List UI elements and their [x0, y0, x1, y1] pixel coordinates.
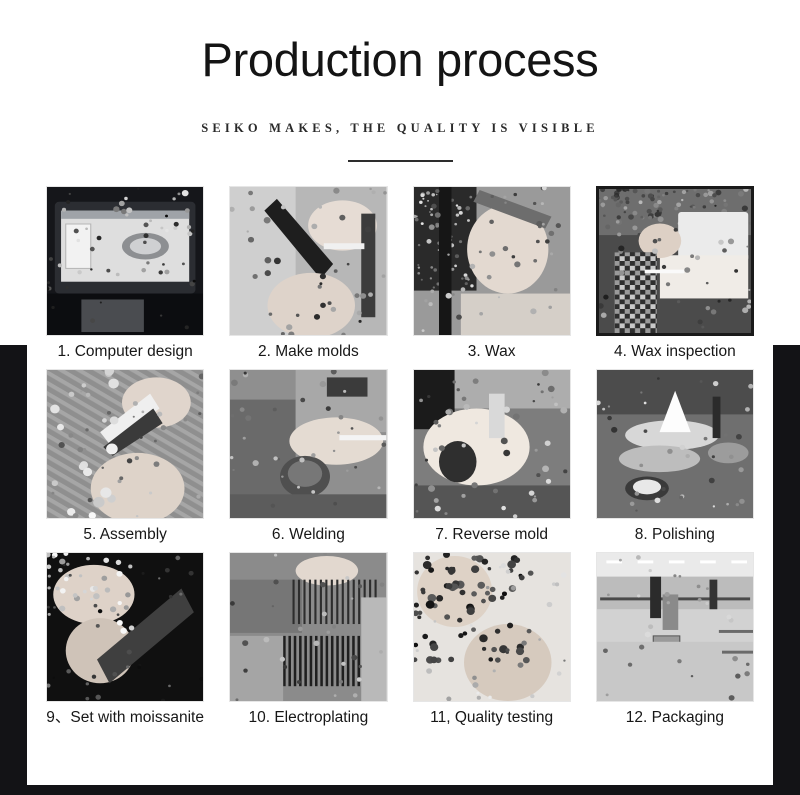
process-step-caption: 3. Wax	[468, 342, 516, 361]
process-step-8[interactable]: 8. Polishing	[596, 369, 754, 544]
process-step-2[interactable]: 2. Make molds	[229, 186, 387, 361]
process-step-7[interactable]: 7. Reverse mold	[413, 369, 571, 544]
process-step-caption: 1. Computer design	[57, 342, 192, 361]
bottom-accent-bar	[0, 785, 800, 795]
process-step-caption: 9、Set with moissanite	[46, 708, 204, 727]
page-subtitle: SEIKO MAKES, THE QUALITY IS VISIBLE	[0, 121, 800, 136]
factory-line-photo[interactable]	[596, 552, 754, 702]
process-step-caption: 11, Quality testing	[430, 708, 553, 727]
process-step-caption: 5. Assembly	[83, 525, 167, 544]
process-step-caption: 4. Wax inspection	[614, 342, 736, 361]
title-divider	[348, 160, 453, 162]
wax-tray-inspection-photo[interactable]	[596, 186, 754, 336]
process-step-6[interactable]: 6. Welding	[229, 369, 387, 544]
process-step-caption: 7. Reverse mold	[435, 525, 548, 544]
process-step-caption: 6. Welding	[272, 525, 345, 544]
plating-racks-photo[interactable]	[229, 552, 387, 702]
polishing-bowls-photo[interactable]	[596, 369, 754, 519]
process-step-9[interactable]: 9、Set with moissanite	[46, 552, 204, 727]
process-step-caption: 2. Make molds	[258, 342, 359, 361]
page-title: Production process	[0, 34, 800, 87]
process-step-5[interactable]: 5. Assembly	[46, 369, 204, 544]
process-step-1[interactable]: 1. Computer design	[46, 186, 204, 361]
process-step-12[interactable]: 12. Packaging	[596, 552, 754, 727]
bench-welding-photo[interactable]	[229, 369, 387, 519]
process-step-caption: 10. Electroplating	[248, 708, 368, 727]
process-step-3[interactable]: 3. Wax	[413, 186, 571, 361]
page-header: Production process SEIKO MAKES, THE QUAL…	[0, 0, 800, 162]
process-step-caption: 12. Packaging	[626, 708, 724, 727]
hands-mold-tools-photo[interactable]	[229, 186, 387, 336]
wax-carving-tree-photo[interactable]	[413, 186, 571, 336]
process-steps-grid: 1. Computer design 2. Make mold	[0, 186, 800, 728]
process-step-4[interactable]: 4. Wax inspection	[596, 186, 754, 361]
casting-flame-photo[interactable]	[413, 369, 571, 519]
process-step-10[interactable]: 10. Electroplating	[229, 552, 387, 727]
computer-monitor-cad-photo[interactable]	[46, 186, 204, 336]
process-step-caption: 8. Polishing	[635, 525, 715, 544]
stone-setting-photo[interactable]	[46, 552, 204, 702]
pliers-assembly-photo[interactable]	[46, 369, 204, 519]
hands-sorting-stones-photo[interactable]	[413, 552, 571, 702]
process-step-11[interactable]: 11, Quality testing	[413, 552, 571, 727]
